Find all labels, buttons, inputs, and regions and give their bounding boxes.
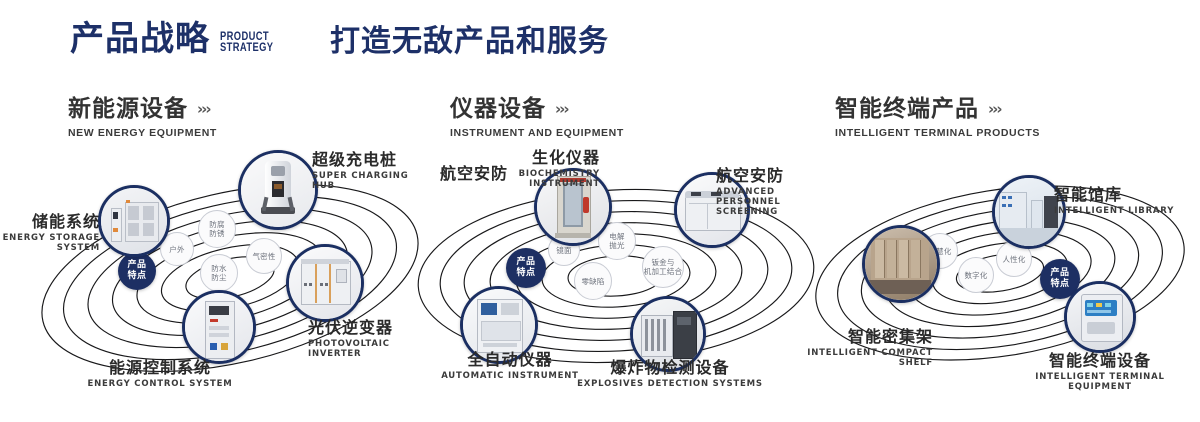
feature-bubble: 钣金与 机加工结合 bbox=[642, 246, 684, 288]
section-title-cn: 智能终端产品 ››› bbox=[835, 96, 1040, 122]
page-title-cn: 产品战略 bbox=[70, 22, 210, 56]
label-intelligent-compact-shelf: 智能密集架 INTELLIGENT COMPACT SHELF bbox=[805, 327, 933, 368]
section-title-en: INSTRUMENT AND EQUIPMENT bbox=[450, 127, 624, 139]
feature-bubble: 零缺陷 bbox=[574, 262, 612, 300]
section-label: 智能终端产品 bbox=[835, 96, 979, 122]
feature-bubble: 防水 防尘 bbox=[200, 254, 238, 292]
label-biochemistry-instrument: 生化仪器 BIOCHEMISTRY INSTRUMENT bbox=[430, 148, 600, 189]
page-title: 产品战略 PRODUCT STRATEGY bbox=[70, 22, 288, 56]
label-energy-storage-system: 储能系统 ENERGY STORAGE SYSTEM bbox=[0, 212, 100, 253]
page-title-en: PRODUCT STRATEGY bbox=[220, 31, 273, 56]
control-system-photo bbox=[185, 293, 253, 361]
page-subtitle: 打造无敌产品和服务 bbox=[330, 24, 609, 60]
label-en: EXPLOSIVES DETECTION SYSTEMS bbox=[570, 379, 770, 389]
core-badge-product-features: 产品 特点 bbox=[506, 248, 546, 288]
inverter-photo bbox=[289, 247, 361, 319]
compact-shelf-photo bbox=[865, 228, 937, 300]
infographic-canvas: 产品战略 PRODUCT STRATEGY 打造无敌产品和服务 新能源设备 ››… bbox=[0, 0, 1200, 422]
section-title-cn: 仪器设备 ››› bbox=[450, 96, 624, 122]
feature-bubble: 防腐 防锈 bbox=[198, 210, 236, 248]
label-en: INTELLIGENT LIBRARY bbox=[1054, 206, 1174, 216]
label-cn: 储能系统 bbox=[0, 212, 100, 231]
cluster-instrument: 镜面 电解 抛光 钣金与 机加工结合 零缺陷 产品 特点 bbox=[420, 150, 810, 400]
label-photovoltaic-inverter: 光伏逆变器 PHOTOVOLTAIC INVERTER bbox=[308, 318, 420, 359]
label-intelligent-library: 智能馆库 INTELLIGENT LIBRARY bbox=[1054, 185, 1174, 216]
label-cn: 光伏逆变器 bbox=[308, 318, 420, 337]
core-badge-product-features: 产品 特点 bbox=[118, 252, 156, 290]
section-title-cn: 新能源设备 ››› bbox=[68, 96, 217, 122]
label-cn: 航空安防 bbox=[716, 166, 810, 185]
section-title-terminal: 智能终端产品 ››› INTELLIGENT TERMINAL PRODUCTS bbox=[835, 96, 1040, 139]
label-advanced-personnel-screening: 航空安防 ADVANCED PERSONNEL SCREENING bbox=[716, 166, 810, 217]
label-cn: 智能密集架 bbox=[805, 327, 933, 346]
label-en: INTELLIGENT COMPACT SHELF bbox=[805, 348, 933, 368]
terminal-equipment-photo bbox=[1067, 284, 1133, 350]
label-explosives-detection-systems: 爆炸物检测设备 EXPLOSIVES DETECTION SYSTEMS bbox=[570, 358, 770, 389]
label-en: ENERGY STORAGE SYSTEM bbox=[0, 233, 100, 253]
label-en: ENERGY CONTROL SYSTEM bbox=[60, 379, 260, 389]
intelligent-library-photo bbox=[995, 178, 1063, 246]
node-super-charging-hub[interactable] bbox=[238, 150, 318, 230]
node-intelligent-terminal-equipment[interactable] bbox=[1064, 281, 1136, 353]
label-cn: 智能终端设备 bbox=[1002, 351, 1198, 370]
section-label: 新能源设备 bbox=[68, 96, 188, 122]
cluster-terminal: 智慧化 数字化 人性化 产品 特点 bbox=[810, 155, 1200, 405]
chevron-right-icon: ››› bbox=[988, 101, 1001, 118]
feature-bubble: 数字化 bbox=[958, 257, 994, 293]
label-energy-control-system: 能源控制系统 ENERGY CONTROL SYSTEM bbox=[60, 358, 260, 389]
chevron-right-icon: ››› bbox=[555, 101, 568, 118]
chevron-right-icon: ››› bbox=[197, 101, 210, 118]
label-en: INTELLIGENT TERMINAL EQUIPMENT bbox=[1002, 372, 1198, 392]
feature-bubble: 气密性 bbox=[246, 238, 282, 274]
energy-storage-photo bbox=[101, 188, 167, 254]
section-title-en: INTELLIGENT TERMINAL PRODUCTS bbox=[835, 127, 1040, 139]
section-label: 仪器设备 bbox=[450, 96, 546, 122]
label-cn: 智能馆库 bbox=[1054, 185, 1174, 204]
node-photovoltaic-inverter[interactable] bbox=[286, 244, 364, 322]
label-en: BIOCHEMISTRY INSTRUMENT bbox=[430, 169, 600, 189]
charging-hub-photo bbox=[241, 153, 315, 227]
cluster-new-energy: 户外 防腐 防锈 气密性 防水 防尘 产品 特点 bbox=[40, 150, 420, 400]
section-title-new-energy: 新能源设备 ››› NEW ENERGY EQUIPMENT bbox=[68, 96, 217, 139]
section-title-instrument: 仪器设备 ››› INSTRUMENT AND EQUIPMENT bbox=[450, 96, 624, 139]
label-en: ADVANCED PERSONNEL SCREENING bbox=[716, 187, 810, 217]
node-intelligent-compact-shelf[interactable] bbox=[862, 225, 940, 303]
node-energy-storage-system[interactable] bbox=[98, 185, 170, 257]
label-cn: 爆炸物检测设备 bbox=[570, 358, 770, 377]
label-en: PHOTOVOLTAIC INVERTER bbox=[308, 339, 420, 359]
node-energy-control-system[interactable] bbox=[182, 290, 256, 364]
section-title-en: NEW ENERGY EQUIPMENT bbox=[68, 127, 217, 139]
label-intelligent-terminal-equipment: 智能终端设备 INTELLIGENT TERMINAL EQUIPMENT bbox=[1002, 351, 1198, 392]
label-cn: 生化仪器 bbox=[430, 148, 600, 167]
label-cn: 能源控制系统 bbox=[60, 358, 260, 377]
